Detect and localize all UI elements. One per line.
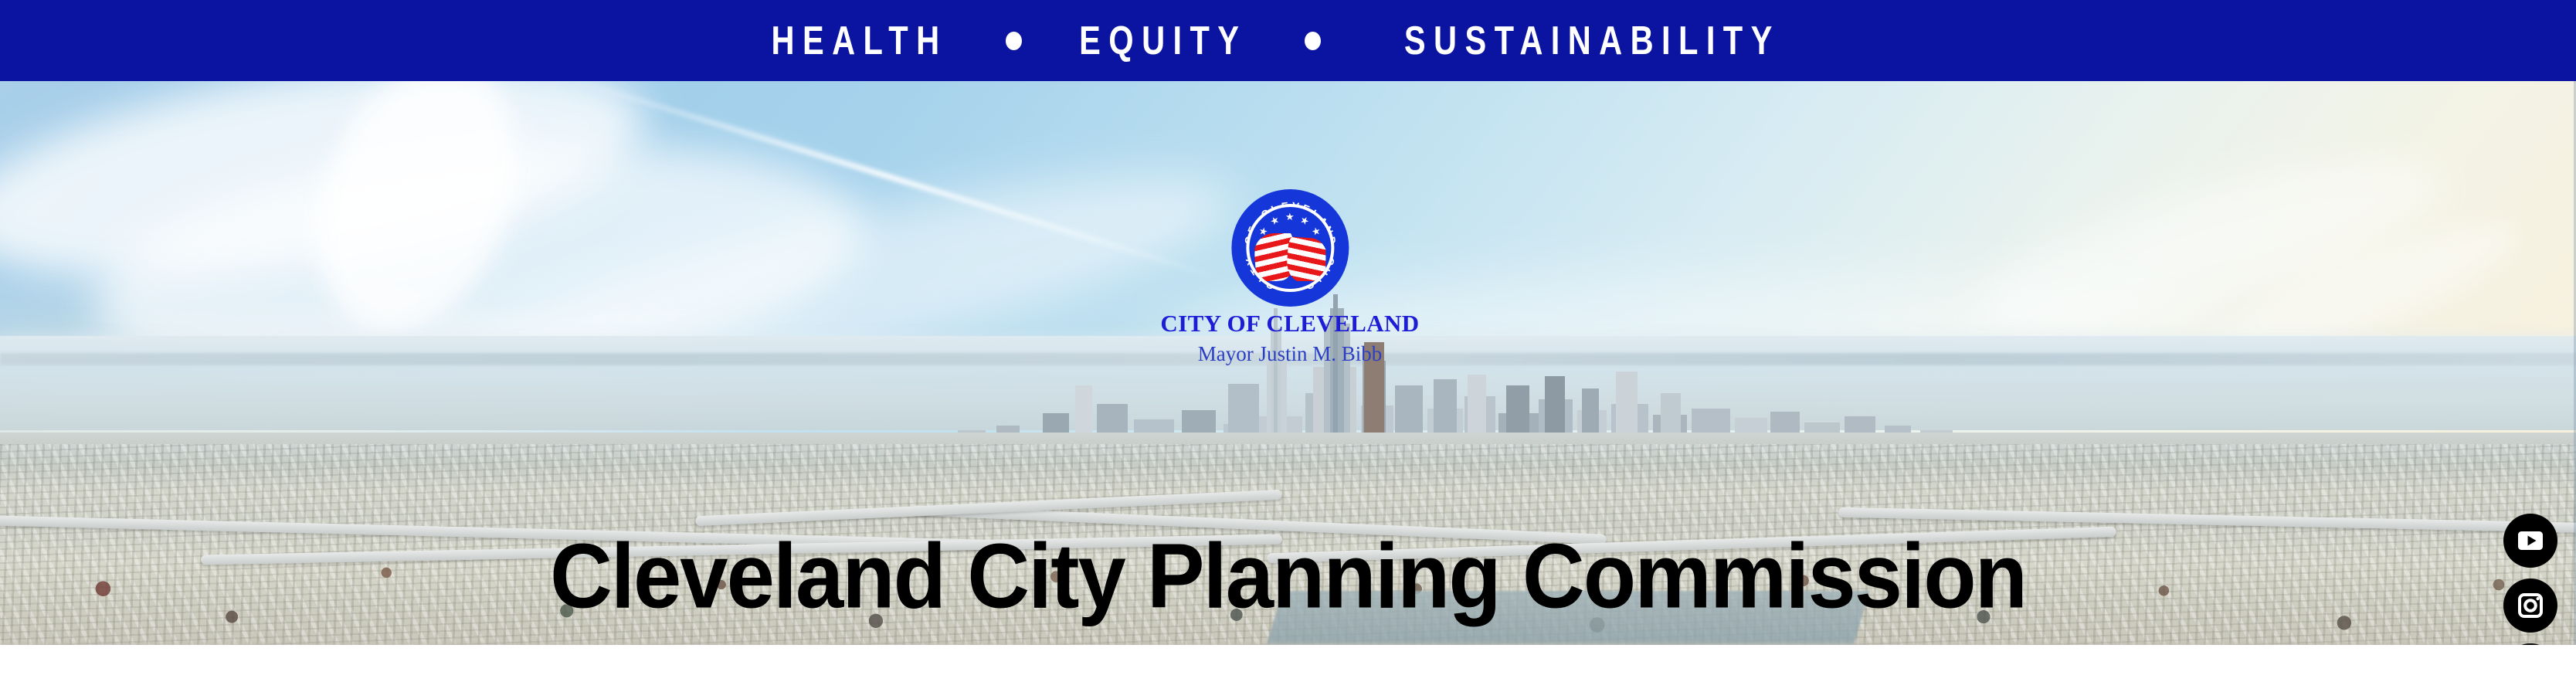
seal-star-icon: ★ — [1268, 214, 1281, 227]
social-links — [2503, 514, 2558, 645]
tagline-word-equity: EQUITY — [1079, 21, 1247, 61]
flag-right-panel — [1285, 236, 1325, 281]
waving-flag-icon — [1254, 233, 1325, 281]
bottom-white-strip — [0, 645, 2576, 682]
bullet-dot-icon — [1006, 32, 1022, 50]
city-of-cleveland-seal-icon: CITYOFCLEVELANDOHIO ★★★★★★★★★ — [1231, 189, 1349, 307]
instagram-link[interactable] — [2503, 579, 2557, 633]
tagline-word-health: HEALTH — [771, 21, 947, 61]
city-logo-block[interactable]: CITYOFCLEVELANDOHIO ★★★★★★★★★ CITY OF CL… — [1160, 189, 1419, 365]
seal-star-icon: ★ — [1298, 214, 1312, 227]
youtube-icon — [2513, 524, 2547, 558]
mayor-name: Mayor Justin M. Bibb — [1198, 344, 1383, 365]
youtube-link[interactable] — [2503, 514, 2557, 568]
tagline-banner-inner: HEALTH EQUITY SUSTAINABILITY — [749, 21, 1827, 61]
tagline-word-sustainability: SUSTAINABILITY — [1403, 21, 1780, 61]
page-title: Cleveland City Planning Commission — [0, 531, 2576, 623]
org-name: CITY OF CLEVELAND — [1160, 311, 1419, 335]
bullet-dot-icon — [1305, 32, 1321, 50]
hero-banner-photo: CITYOFCLEVELANDOHIO ★★★★★★★★★ CITY OF CL… — [0, 81, 2576, 645]
page-root: HEALTH EQUITY SUSTAINABILITY — [0, 0, 2576, 682]
seal-blue-field: ★★★★★★★★★ — [1249, 207, 1331, 289]
seal-star-icon: ★ — [1285, 212, 1295, 222]
tagline-banner: HEALTH EQUITY SUSTAINABILITY — [0, 0, 2576, 81]
instagram-icon — [2513, 589, 2547, 623]
